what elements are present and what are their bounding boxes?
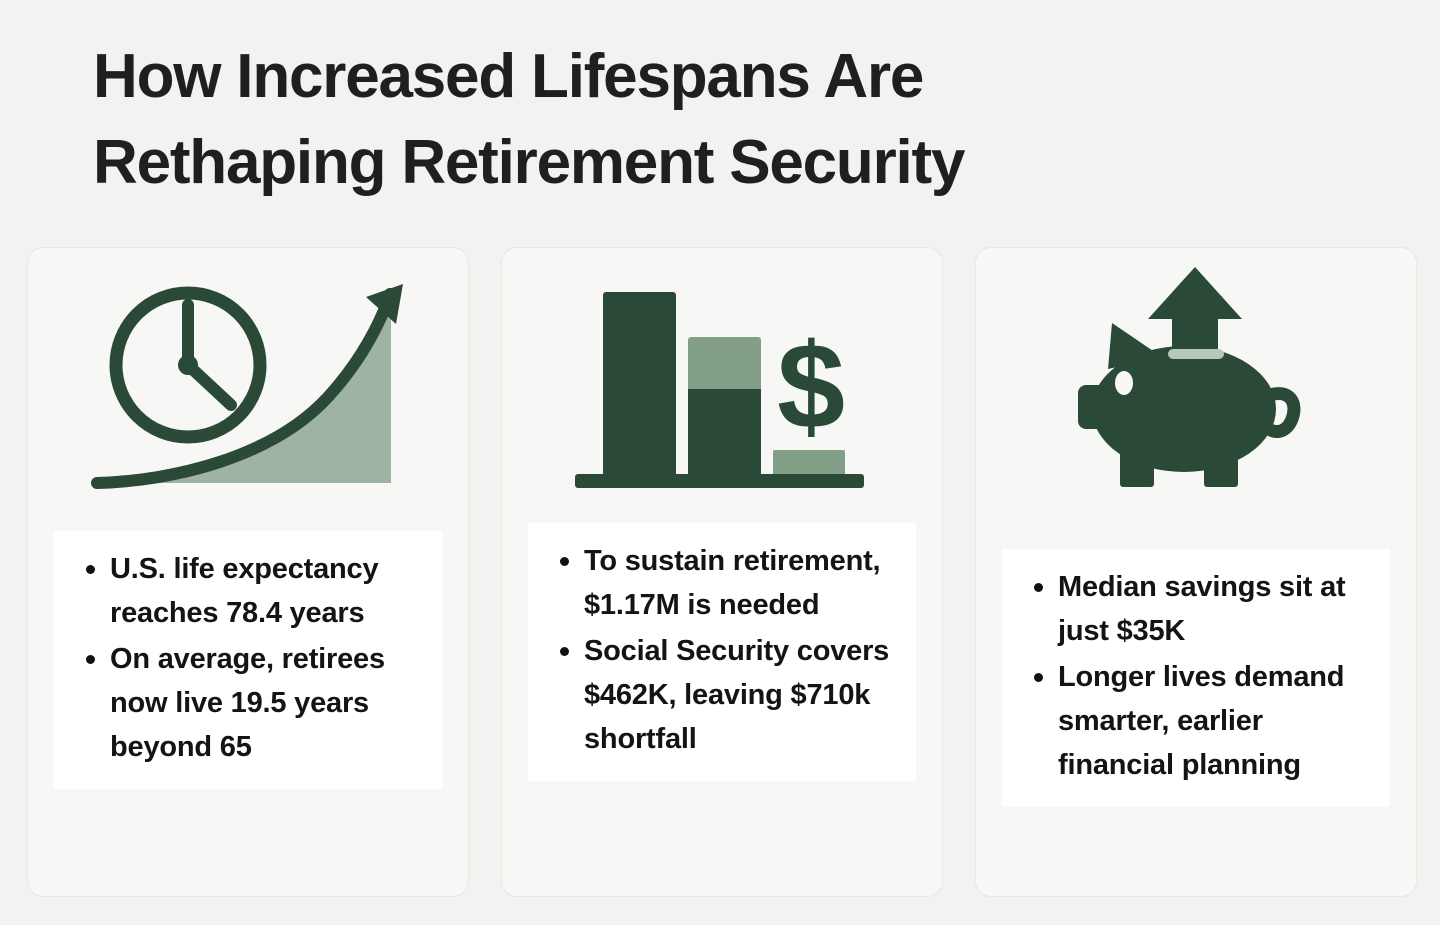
card-savings: Median savings sit at just $35K Longer l… [975,247,1417,897]
card-funding-text-panel: To sustain retirement, $1.17M is needed … [528,523,916,781]
card-savings-bullet-list: Median savings sit at just $35K Longer l… [1024,565,1370,787]
card-savings-text-panel: Median savings sit at just $35K Longer l… [1002,549,1390,807]
list-item: U.S. life expectancy reaches 78.4 years [76,547,422,635]
dollar-sign-icon: $ [777,318,845,454]
card-lifespan-icon-area [28,248,468,498]
bar-chart-dollar-icon: $ [575,278,870,493]
list-item: Median savings sit at just $35K [1024,565,1370,653]
list-item: Longer lives demand smarter, earlier fin… [1024,655,1370,787]
list-item: Social Security covers $462K, leaving $7… [550,629,896,761]
page-title: How Increased Lifespans Are Rethaping Re… [93,34,1353,205]
card-funding: $ To sustain retirement, $1.17M is neede… [501,247,943,897]
piggy-bank-arrow-up-icon [1064,263,1329,498]
card-funding-bullet-list: To sustain retirement, $1.17M is needed … [550,539,896,761]
clock-growth-chart-icon [83,272,413,497]
cards-row: U.S. life expectancy reaches 78.4 years … [27,247,1417,897]
card-lifespan-text-panel: U.S. life expectancy reaches 78.4 years … [54,531,442,789]
card-savings-icon-area [976,248,1416,498]
list-item: On average, retirees now live 19.5 years… [76,637,422,769]
list-item: To sustain retirement, $1.17M is needed [550,539,896,627]
card-funding-icon-area: $ [502,248,942,498]
card-lifespan-bullet-list: U.S. life expectancy reaches 78.4 years … [76,547,422,769]
card-lifespan: U.S. life expectancy reaches 78.4 years … [27,247,469,897]
